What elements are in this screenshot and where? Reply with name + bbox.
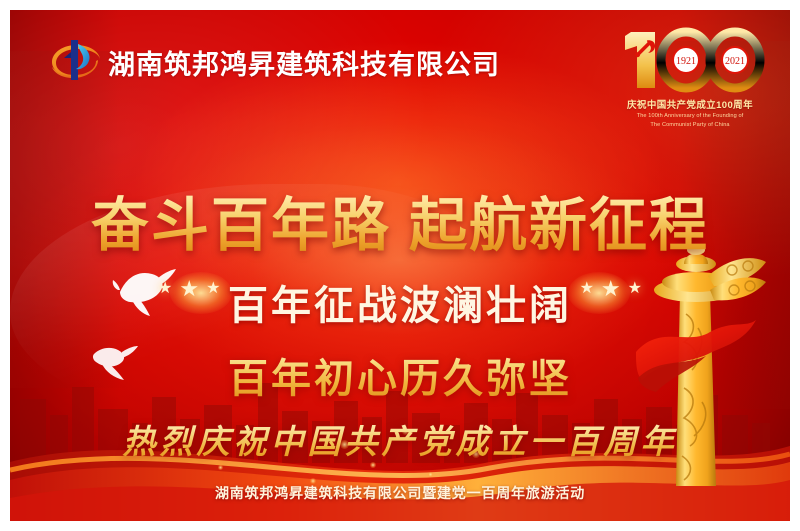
anniversary-years: 1921–2021 xyxy=(10,114,790,172)
light-particle xyxy=(428,472,433,477)
sub-slogan-line-2: 百年初心历久弥坚 xyxy=(10,346,790,404)
emblem-100-logo: 1921 2021 xyxy=(615,24,765,96)
light-particle xyxy=(218,465,223,470)
celebration-line: 热烈庆祝中国共产党成立一百周年 xyxy=(10,415,790,463)
celebration-poster: 湖南筑邦鸿昇建筑科技有限公司 xyxy=(10,10,790,521)
footer-caption: 湖南筑邦鸿昇建筑科技有限公司暨建党一百周年旅游活动 xyxy=(10,483,790,503)
main-slogan: 奋斗百年路 起航新征程 xyxy=(10,178,790,262)
company-name: 湖南筑邦鸿昇建筑科技有限公司 xyxy=(108,43,500,82)
emblem-caption-cn: 庆祝中国共产党成立100周年 xyxy=(604,97,776,111)
emblem-year-right: 2021 xyxy=(725,56,745,67)
company-logo-icon xyxy=(46,32,104,90)
sub-slogan-line-1: 百年征战波澜壮阔 xyxy=(10,273,790,331)
emblem-year-left: 1921 xyxy=(676,56,696,67)
